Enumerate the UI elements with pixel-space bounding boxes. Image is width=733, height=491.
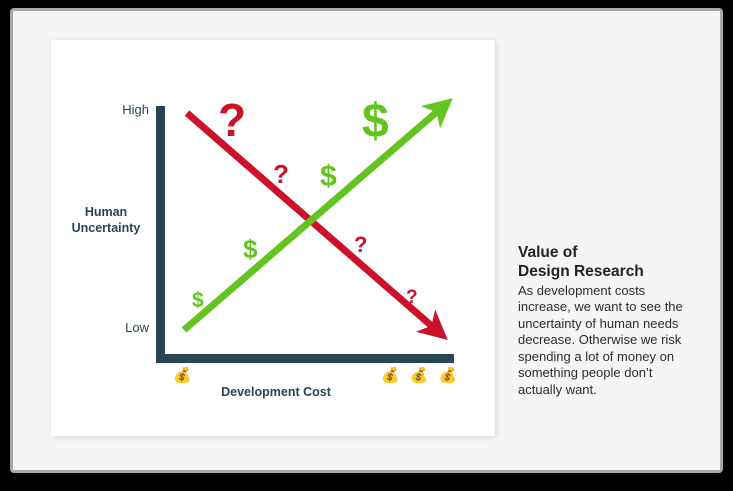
cost-glyph-m: $ — [243, 236, 257, 262]
x-axis-title: Development Cost — [181, 385, 371, 399]
plot-area: High Low Human Uncertainty 💰 💰 💰 💰 Devel… — [51, 40, 495, 436]
y-axis-tick-high: High — [81, 102, 149, 117]
chart-card: High Low Human Uncertainty 💰 💰 💰 💰 Devel… — [51, 40, 495, 436]
info-panel-title: Value of Design Research — [518, 244, 693, 282]
uncertainty-glyph-m: ? — [354, 234, 367, 256]
info-panel-body: As development costs increase, we want t… — [518, 283, 693, 399]
y-axis-title: Human Uncertainty — [61, 205, 151, 236]
uncertainty-glyph-l: ? — [273, 161, 289, 187]
money-bag-low-icon: 💰 — [173, 368, 195, 383]
info-panel: Value of Design Research As development … — [518, 244, 693, 398]
y-axis-line — [156, 106, 165, 363]
uncertainty-glyph-xl: ? — [218, 97, 246, 143]
cost-glyph-s: $ — [192, 290, 204, 311]
y-axis-tick-low: Low — [81, 320, 149, 335]
y-axis-title-line1: Human — [85, 205, 127, 219]
window-frame: High Low Human Uncertainty 💰 💰 💰 💰 Devel… — [10, 8, 723, 473]
cost-glyph-l: $ — [320, 162, 337, 192]
x-axis-line — [156, 354, 454, 363]
y-axis-title-line2: Uncertainty — [72, 221, 141, 235]
cost-glyph-xl: $ — [362, 98, 389, 146]
money-bag-high-icon: 💰 💰 💰 — [381, 368, 460, 383]
uncertainty-glyph-s: ? — [406, 288, 418, 307]
